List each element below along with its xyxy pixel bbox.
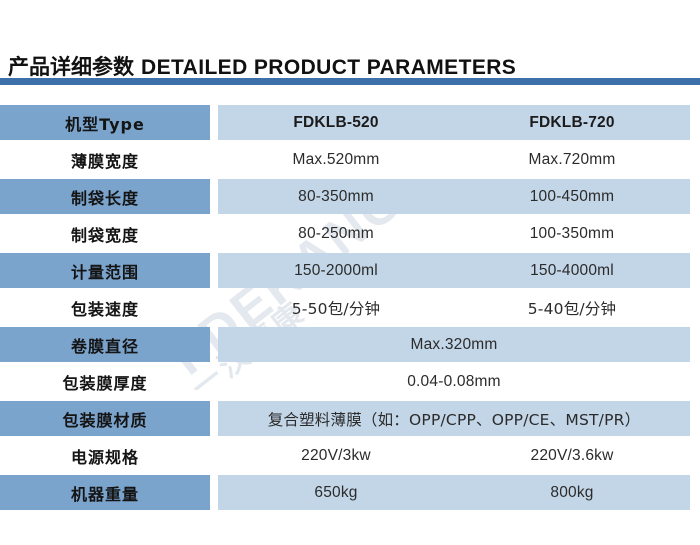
table-row: 机器重量650kg800kg: [0, 475, 700, 510]
row-values: 0.04-0.08mm: [218, 364, 690, 399]
page-title-english: DETAILED PRODUCT PARAMETERS: [141, 57, 516, 78]
value-cell: 650kg: [218, 475, 454, 510]
row-values: Max.520mmMax.720mm: [218, 142, 690, 177]
value-cell-merged: 0.04-0.08mm: [218, 364, 690, 399]
value-cell: 80-250mm: [218, 216, 454, 251]
row-values: 80-250mm100-350mm: [218, 216, 690, 251]
table-row: 计量范围150-2000ml150-4000ml: [0, 253, 700, 288]
column-gap: [210, 364, 218, 399]
value-cell: 150-4000ml: [454, 253, 690, 288]
value-cell: Max.720mm: [454, 142, 690, 177]
page-title: 产品详细参数 DETAILED PRODUCT PARAMETERS: [0, 44, 700, 78]
row-label: 包装速度: [0, 290, 210, 325]
row-values: 5-50包/分钟5-40包/分钟: [218, 290, 690, 325]
row-values: FDKLB-520FDKLB-720: [218, 105, 690, 140]
column-gap: [210, 179, 218, 214]
specifications-table: 机型TypeFDKLB-520FDKLB-720薄膜宽度Max.520mmMax…: [0, 105, 700, 512]
value-cell: FDKLB-520: [218, 105, 454, 140]
row-label: 电源规格: [0, 438, 210, 473]
row-values: 150-2000ml150-4000ml: [218, 253, 690, 288]
row-values: 220V/3kw220V/3.6kw: [218, 438, 690, 473]
product-parameters-page: 产品详细参数 DETAILED PRODUCT PARAMETERS FDEKA…: [0, 0, 700, 545]
row-label: 机型Type: [0, 105, 210, 140]
table-row: 薄膜宽度Max.520mmMax.720mm: [0, 142, 700, 177]
value-cell: 5-50包/分钟: [218, 290, 454, 325]
value-cell: FDKLB-720: [454, 105, 690, 140]
row-label: 制袋宽度: [0, 216, 210, 251]
table-row: 包装膜厚度0.04-0.08mm: [0, 364, 700, 399]
row-label: 计量范围: [0, 253, 210, 288]
value-cell-merged: 复合塑料薄膜（如：OPP/CPP、OPP/CE、MST/PR）: [218, 401, 690, 436]
row-label: 制袋长度: [0, 179, 210, 214]
column-gap: [210, 216, 218, 251]
row-label: 包装膜厚度: [0, 364, 210, 399]
table-row: 包装速度5-50包/分钟5-40包/分钟: [0, 290, 700, 325]
column-gap: [210, 327, 218, 362]
table-row: 卷膜直径Max.320mm: [0, 327, 700, 362]
row-label: 包装膜材质: [0, 401, 210, 436]
value-cell: Max.520mm: [218, 142, 454, 177]
table-row: 电源规格220V/3kw220V/3.6kw: [0, 438, 700, 473]
column-gap: [210, 142, 218, 177]
value-cell: 800kg: [454, 475, 690, 510]
value-cell: 5-40包/分钟: [454, 290, 690, 325]
column-gap: [210, 401, 218, 436]
table-row: 制袋长度80-350mm100-450mm: [0, 179, 700, 214]
title-divider-bar: [0, 78, 700, 85]
value-cell: 220V/3kw: [218, 438, 454, 473]
row-label: 机器重量: [0, 475, 210, 510]
column-gap: [210, 290, 218, 325]
table-row: 包装膜材质复合塑料薄膜（如：OPP/CPP、OPP/CE、MST/PR）: [0, 401, 700, 436]
column-gap: [210, 475, 218, 510]
value-cell: 100-450mm: [454, 179, 690, 214]
page-title-chinese: 产品详细参数: [8, 57, 134, 78]
column-gap: [210, 438, 218, 473]
row-values: 80-350mm100-450mm: [218, 179, 690, 214]
column-gap: [210, 253, 218, 288]
value-cell-merged: Max.320mm: [218, 327, 690, 362]
row-label: 卷膜直径: [0, 327, 210, 362]
row-label: 薄膜宽度: [0, 142, 210, 177]
row-values: Max.320mm: [218, 327, 690, 362]
column-gap: [210, 105, 218, 140]
table-header-row: 机型TypeFDKLB-520FDKLB-720: [0, 105, 700, 140]
value-cell: 100-350mm: [454, 216, 690, 251]
row-values: 650kg800kg: [218, 475, 690, 510]
table-row: 制袋宽度80-250mm100-350mm: [0, 216, 700, 251]
row-values: 复合塑料薄膜（如：OPP/CPP、OPP/CE、MST/PR）: [218, 401, 690, 436]
value-cell: 220V/3.6kw: [454, 438, 690, 473]
value-cell: 150-2000ml: [218, 253, 454, 288]
value-cell: 80-350mm: [218, 179, 454, 214]
